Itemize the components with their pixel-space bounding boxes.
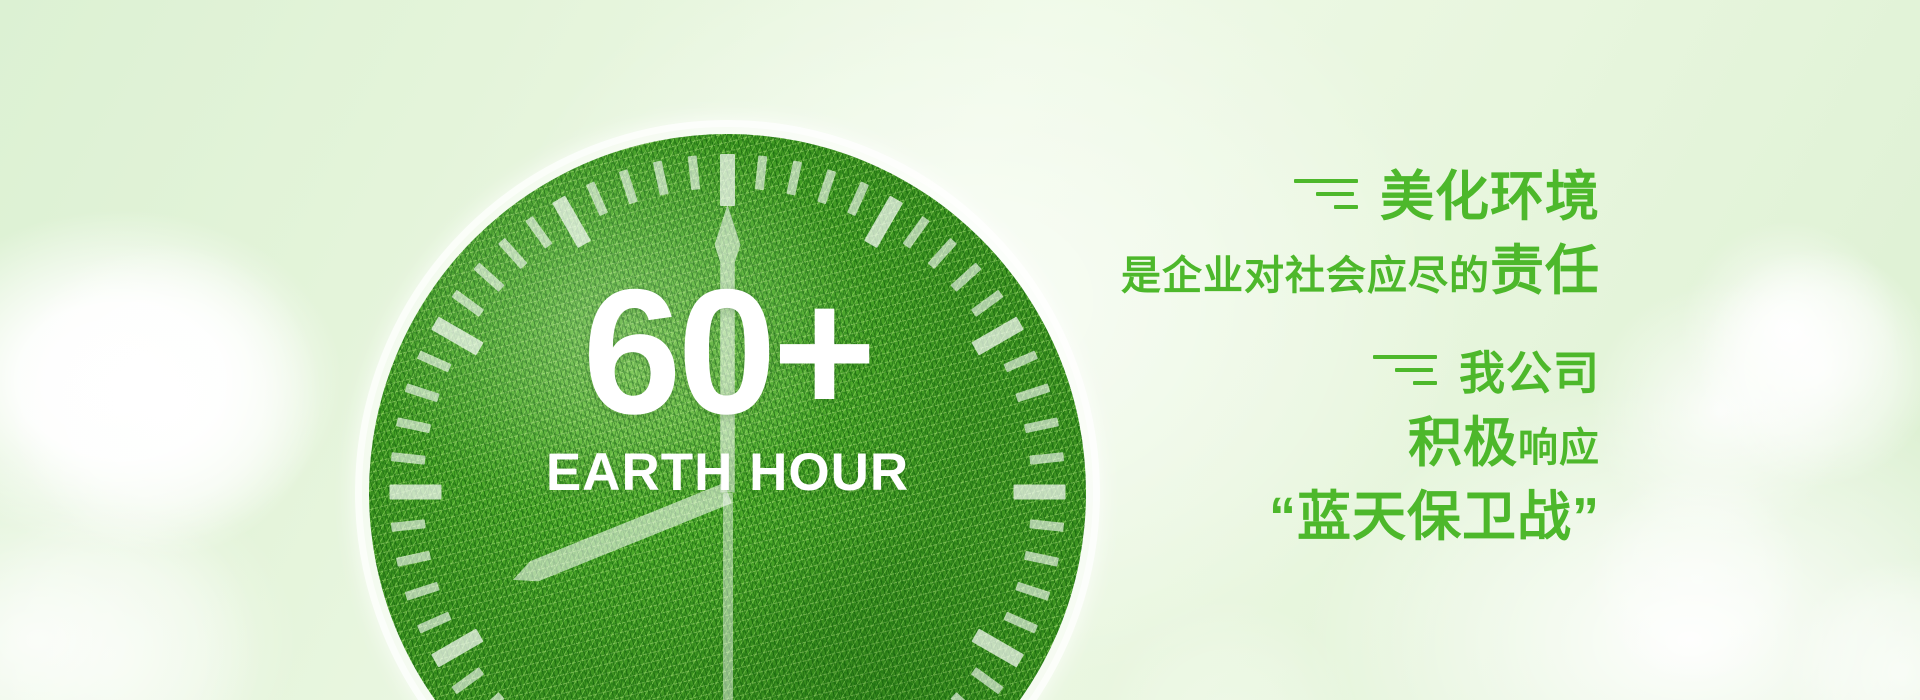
clock-tick-minor <box>971 667 1004 694</box>
clock-tick-minor <box>688 155 701 190</box>
slogan-two-action-small: 响应 <box>1518 426 1600 470</box>
clock-tick-minor <box>451 667 484 694</box>
clock-tick-minor <box>755 155 768 190</box>
clock-tick-minor <box>586 181 608 216</box>
clock-tick-minor <box>498 238 527 269</box>
clock-tick-minor <box>417 350 452 372</box>
earth-hour-promo-banner: 60+ EARTH HOUR 美化环境 是企业对社会应尽的责任 <box>0 0 1920 700</box>
clock-tick-major <box>552 196 591 249</box>
clock-tick-major <box>431 317 484 356</box>
clock-tick-minor <box>1024 551 1059 567</box>
clock-tick-minor <box>1003 612 1038 634</box>
clock-tick-minor <box>451 290 484 317</box>
slogan-block-two: 我公司 积极响应 “蓝天保卫战” <box>840 350 1600 544</box>
slogan-one-subline-small: 是企业对社会应尽的 <box>1121 254 1490 298</box>
clock-tick-minor <box>817 169 836 204</box>
clock-tick-minor <box>405 383 440 402</box>
clock-tick-minor <box>417 612 452 634</box>
clock-tick-minor <box>396 417 431 433</box>
slogan-one-headline: 美化环境 <box>1380 170 1600 224</box>
clock-tick-minor <box>619 169 638 204</box>
clock-tick-minor <box>950 692 981 700</box>
bokeh-right-upper <box>1700 250 1920 485</box>
clock-tick-minor <box>396 551 431 567</box>
clock-tick-minor <box>405 582 440 601</box>
bokeh-left-lower <box>0 505 260 700</box>
clock-tick-minor <box>473 262 504 291</box>
clock-tick-minor <box>391 452 426 465</box>
clock-minute-hand <box>715 205 741 493</box>
bokeh-left-large <box>10 245 320 555</box>
slogan-two-quote: “蓝天保卫战” <box>1269 487 1600 547</box>
slogan-two-headline: 我公司 <box>1459 350 1600 396</box>
slogan-one-subline-big: 责任 <box>1490 241 1600 301</box>
slogan-two-action-line: 积极响应 <box>840 416 1600 470</box>
deco-lines-icon <box>1294 179 1358 215</box>
clock-second-hand <box>723 493 733 700</box>
bokeh-right-lower <box>1790 560 1920 700</box>
bokeh-center-soft <box>1100 600 1360 700</box>
slogan-block-one: 美化环境 是企业对社会应尽的责任 <box>840 170 1600 298</box>
slogan-two-quote-line: “蓝天保卫战” <box>840 490 1600 544</box>
clock-tick-minor <box>525 216 552 249</box>
slogan-copy: 美化环境 是企业对社会应尽的责任 我公司 积极响应 “蓝天保卫战” <box>840 170 1600 544</box>
clock-tick-minor <box>786 160 802 195</box>
slogan-one-subline: 是企业对社会应尽的责任 <box>840 244 1600 298</box>
slogan-two-action-big: 积极 <box>1408 413 1518 473</box>
clock-tick-minor <box>653 160 669 195</box>
clock-tick-major <box>971 629 1024 668</box>
clock-hour-hand <box>508 482 731 589</box>
clock-tick-major <box>390 485 442 500</box>
clock-tick-major <box>720 154 735 206</box>
slogan-one-headline-row: 美化环境 <box>840 170 1600 224</box>
deco-lines-icon <box>1373 355 1437 391</box>
clock-tick-minor <box>1015 582 1050 601</box>
clock-tick-major <box>431 629 484 668</box>
clock-tick-minor <box>473 692 504 700</box>
bokeh-right-mid <box>1590 470 1805 685</box>
slogan-two-headline-row: 我公司 <box>840 350 1600 396</box>
clock-tick-minor <box>391 519 426 532</box>
